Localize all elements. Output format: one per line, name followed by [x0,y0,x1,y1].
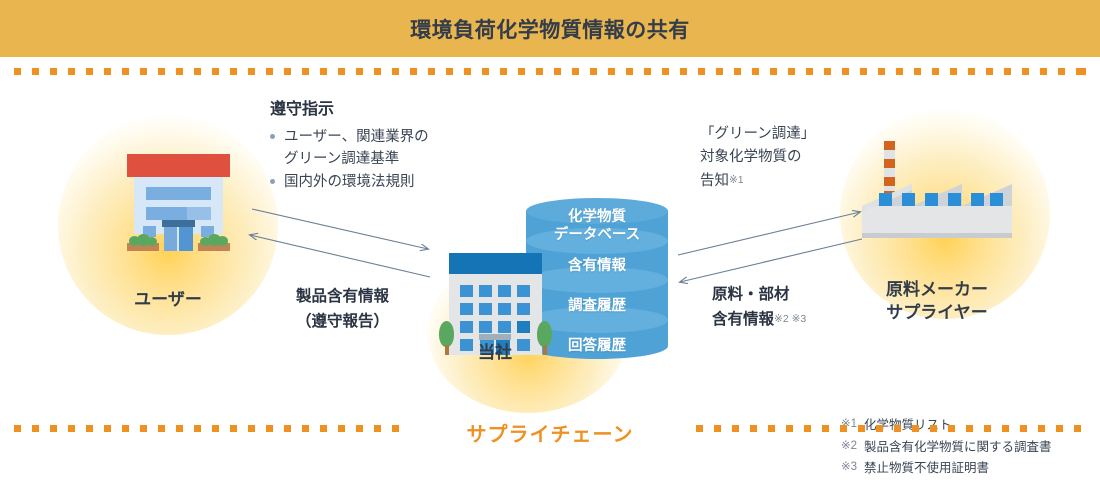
title-bar: 環境負荷化学物質情報の共有 [0,0,1100,57]
footnote-mark: ※3 [841,458,857,480]
bullet-dot-icon [270,134,275,139]
arrow-company-to-user [250,235,430,277]
frame-bottom-left-border [14,425,404,432]
footnote-ref: ※2 ※3 [774,313,806,325]
company-building-icon [443,253,548,355]
footnote-text: 化学物質リスト [864,415,952,437]
factory-icon [862,141,1012,238]
diagram-root: 環境負荷化学物質情報の共有 [0,0,1100,467]
diagram-stage: ユーザー 化学物質データベース 含有情報 調査履歴 回答履歴 [0,57,1100,467]
supply-chain-label: サプライチェーン [445,418,656,447]
footnote-text: 製品含有化学物質に関する調査書 [864,437,1052,459]
footnote-item: ※2 製品含有化学物質に関する調査書 [841,437,1052,459]
bush-left-icon [127,236,159,251]
footnote-item: ※1 化学物質リスト [841,415,1052,437]
db-layer-label-0: 化学物質データベース [526,209,668,244]
bullet-dot-icon [270,179,275,184]
footnote-item: ※3 禁止物質不使用証明書 [841,458,1052,480]
list-item: ユーザー、関連業界の グリーン調達基準 [270,126,429,171]
arrow-company-to-supplier [678,212,860,255]
frame-right-border [1079,68,1086,432]
footnote-ref: ※1 [729,174,744,186]
footnote-mark: ※2 [841,437,857,459]
green-procurement-notice-label: 「グリーン調達」 対象化学物質の 告知※1 [700,123,815,193]
supplier-label: 原料メーカーサプライヤー [852,279,1022,325]
company-label: 当社 [415,342,575,365]
compliance-bullet-list: ユーザー、関連業界の グリーン調達基準 国内外の環境法規則 [270,126,429,193]
page-title: 環境負荷化学物質情報の共有 [410,14,690,44]
compliance-heading: 遵守指示 [270,95,429,119]
office-building-icon [127,154,230,234]
arrow-user-to-company [252,209,428,249]
product-content-report-label: 製品含有情報 （遵守報告） [255,285,430,335]
compliance-instruction-block: 遵守指示 ユーザー、関連業界の グリーン調達基準 国内外の環境法規則 [270,95,429,193]
bush-right-icon [198,236,230,251]
footnote-mark: ※1 [841,415,857,437]
list-item: 国内外の環境法規則 [270,171,429,193]
footnote-text: 禁止物質不使用証明書 [864,458,989,480]
frame-left-border [14,68,21,432]
user-label: ユーザー [88,289,248,312]
material-content-info-label: 原料・部材 含有情報※2 ※3 [712,283,806,333]
frame-top-border [14,68,1086,75]
arrow-supplier-to-company [680,239,862,282]
footnotes-block: ※1 化学物質リスト ※2 製品含有化学物質に関する調査書 ※3 禁止物質不使用… [841,415,1052,480]
